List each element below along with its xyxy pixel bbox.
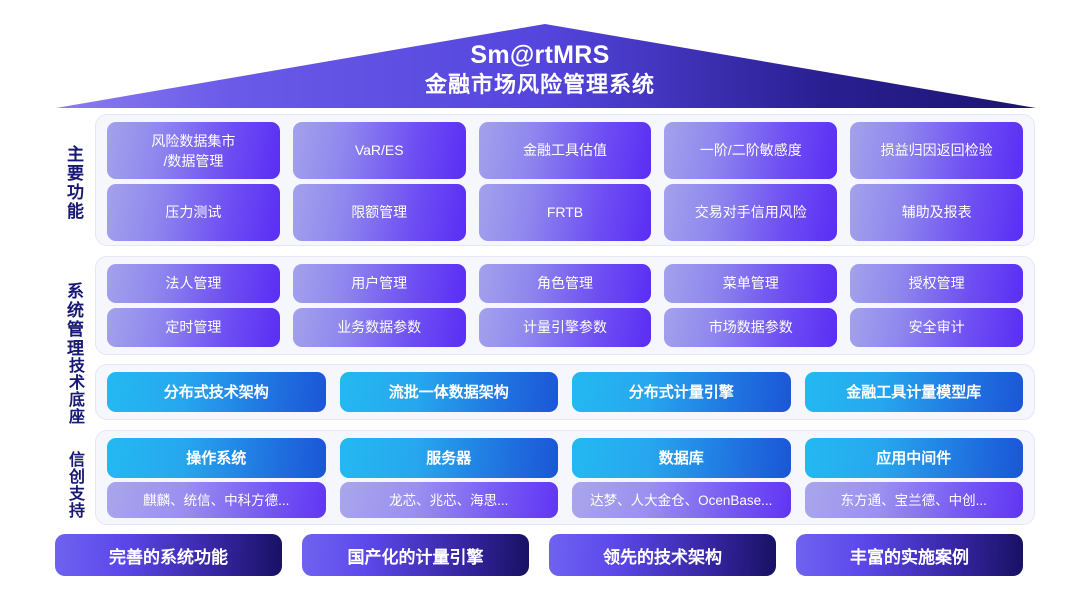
card-label: 定时管理 <box>165 318 221 337</box>
card-label: 数据库 <box>659 449 704 468</box>
card-label: 分布式技术架构 <box>164 383 269 402</box>
card-label: 龙芯、兆芯、海思... <box>389 491 508 510</box>
card-label: 用户管理 <box>351 274 407 293</box>
card-legal-entity-management[interactable]: 法人管理 <box>107 264 280 303</box>
card-user-management[interactable]: 用户管理 <box>293 264 466 303</box>
card-label: 计量引擎参数 <box>523 318 607 337</box>
innovation-support-row-2: 麒麟、统信、中科方德... 龙芯、兆芯、海思... 达梦、人大金仓、OcenBa… <box>107 482 1023 518</box>
card-label: 达梦、人大金仓、OcenBase... <box>590 491 772 510</box>
card-label: VaR/ES <box>355 141 404 160</box>
card-label: 操作系统 <box>186 449 246 468</box>
main-functions-row-1: 风险数据集市 /数据管理 VaR/ES 金融工具估值 一阶/二阶敏感度 损益归因… <box>107 122 1023 179</box>
card-application-middleware[interactable]: 应用中间件 <box>805 438 1024 478</box>
card-label: 东方通、宝兰德、中创... <box>841 491 987 510</box>
card-database-vendors[interactable]: 达梦、人大金仓、OcenBase... <box>572 482 791 518</box>
system-management-row-2: 定时管理 业务数据参数 计量引擎参数 市场数据参数 安全审计 <box>107 308 1023 347</box>
banner-leading-tech-architecture[interactable]: 领先的技术架构 <box>549 534 776 576</box>
card-business-data-params[interactable]: 业务数据参数 <box>293 308 466 347</box>
banner-label: 国产化的计量引擎 <box>348 543 484 568</box>
card-label: 授权管理 <box>909 274 965 293</box>
card-var-es[interactable]: VaR/ES <box>293 122 466 179</box>
card-label: 辅助及报表 <box>902 203 972 222</box>
card-frtb[interactable]: FRTB <box>479 184 652 241</box>
card-schedule-management[interactable]: 定时管理 <box>107 308 280 347</box>
card-security-audit[interactable]: 安全审计 <box>850 308 1023 347</box>
card-market-data-params[interactable]: 市场数据参数 <box>664 308 837 347</box>
section-label-innovation-support: 信创支持 <box>58 432 88 537</box>
card-counterparty-credit-risk[interactable]: 交易对手信用风险 <box>664 184 837 241</box>
card-label: FRTB <box>547 203 583 222</box>
card-menu-management[interactable]: 菜单管理 <box>664 264 837 303</box>
card-label: 分布式计量引擎 <box>629 383 734 402</box>
infographic-root: Sm@rtMRS 金融市场风险管理系统 主要功能 风险数据集市 /数据管理 Va… <box>0 0 1080 604</box>
card-label: 法人管理 <box>165 274 221 293</box>
card-limit-management[interactable]: 限额管理 <box>293 184 466 241</box>
banner-label: 领先的技术架构 <box>603 543 722 568</box>
card-instrument-valuation[interactable]: 金融工具估值 <box>479 122 652 179</box>
card-stress-testing[interactable]: 压力测试 <box>107 184 280 241</box>
card-label: 交易对手信用风险 <box>695 203 807 222</box>
card-label: 菜单管理 <box>723 274 779 293</box>
roof-shape <box>0 0 1080 118</box>
card-operating-system[interactable]: 操作系统 <box>107 438 326 478</box>
section-label-tech-foundation: 技术底座 <box>58 352 88 430</box>
footer-banner-row: 完善的系统功能 国产化的计量引擎 领先的技术架构 丰富的实施案例 <box>55 534 1023 576</box>
card-label: 金融工具估值 <box>523 141 607 160</box>
card-label: 业务数据参数 <box>337 318 421 337</box>
card-server[interactable]: 服务器 <box>340 438 559 478</box>
card-calc-engine-params[interactable]: 计量引擎参数 <box>479 308 652 347</box>
card-label: 角色管理 <box>537 274 593 293</box>
card-label: 损益归因返回检验 <box>881 141 993 160</box>
card-risk-data-mart[interactable]: 风险数据集市 /数据管理 <box>107 122 280 179</box>
card-pnl-attribution-backtest[interactable]: 损益归因返回检验 <box>850 122 1023 179</box>
banner-label: 完善的系统功能 <box>109 543 228 568</box>
card-stream-batch-data-architecture[interactable]: 流批一体数据架构 <box>340 372 559 412</box>
card-label: 限额管理 <box>351 203 407 222</box>
card-label: 安全审计 <box>909 318 965 337</box>
banner-domestic-calc-engine[interactable]: 国产化的计量引擎 <box>302 534 529 576</box>
banner-rich-implementation-cases[interactable]: 丰富的实施案例 <box>796 534 1023 576</box>
card-middleware-vendors[interactable]: 东方通、宝兰德、中创... <box>805 482 1024 518</box>
banner-label: 丰富的实施案例 <box>850 543 969 568</box>
system-management-row-1: 法人管理 用户管理 角色管理 菜单管理 授权管理 <box>107 264 1023 303</box>
card-server-vendors[interactable]: 龙芯、兆芯、海思... <box>340 482 559 518</box>
card-label: 应用中间件 <box>876 449 951 468</box>
innovation-support-row-1: 操作系统 服务器 数据库 应用中间件 <box>107 438 1023 478</box>
card-label: 流批一体数据架构 <box>389 383 509 402</box>
card-instrument-model-library[interactable]: 金融工具计量模型库 <box>805 372 1024 412</box>
card-sensitivity[interactable]: 一阶/二阶敏感度 <box>664 122 837 179</box>
card-os-vendors[interactable]: 麒麟、统信、中科方德... <box>107 482 326 518</box>
tech-foundation-row: 分布式技术架构 流批一体数据架构 分布式计量引擎 金融工具计量模型库 <box>107 372 1023 412</box>
banner-complete-system-functions[interactable]: 完善的系统功能 <box>55 534 282 576</box>
card-database[interactable]: 数据库 <box>572 438 791 478</box>
section-label-main-functions: 主要功能 <box>58 125 88 240</box>
card-label: 压力测试 <box>165 203 221 222</box>
card-authorization-management[interactable]: 授权管理 <box>850 264 1023 303</box>
card-label: 风险数据集市 /数据管理 <box>151 131 235 171</box>
card-distributed-calc-engine[interactable]: 分布式计量引擎 <box>572 372 791 412</box>
card-auxiliary-reports[interactable]: 辅助及报表 <box>850 184 1023 241</box>
card-label: 金融工具计量模型库 <box>846 383 981 402</box>
card-label: 麒麟、统信、中科方德... <box>143 491 289 510</box>
card-label: 一阶/二阶敏感度 <box>700 141 802 160</box>
main-functions-row-2: 压力测试 限额管理 FRTB 交易对手信用风险 辅助及报表 <box>107 184 1023 241</box>
card-label: 市场数据参数 <box>709 318 793 337</box>
card-label: 服务器 <box>426 449 471 468</box>
card-distributed-architecture[interactable]: 分布式技术架构 <box>107 372 326 412</box>
card-role-management[interactable]: 角色管理 <box>479 264 652 303</box>
